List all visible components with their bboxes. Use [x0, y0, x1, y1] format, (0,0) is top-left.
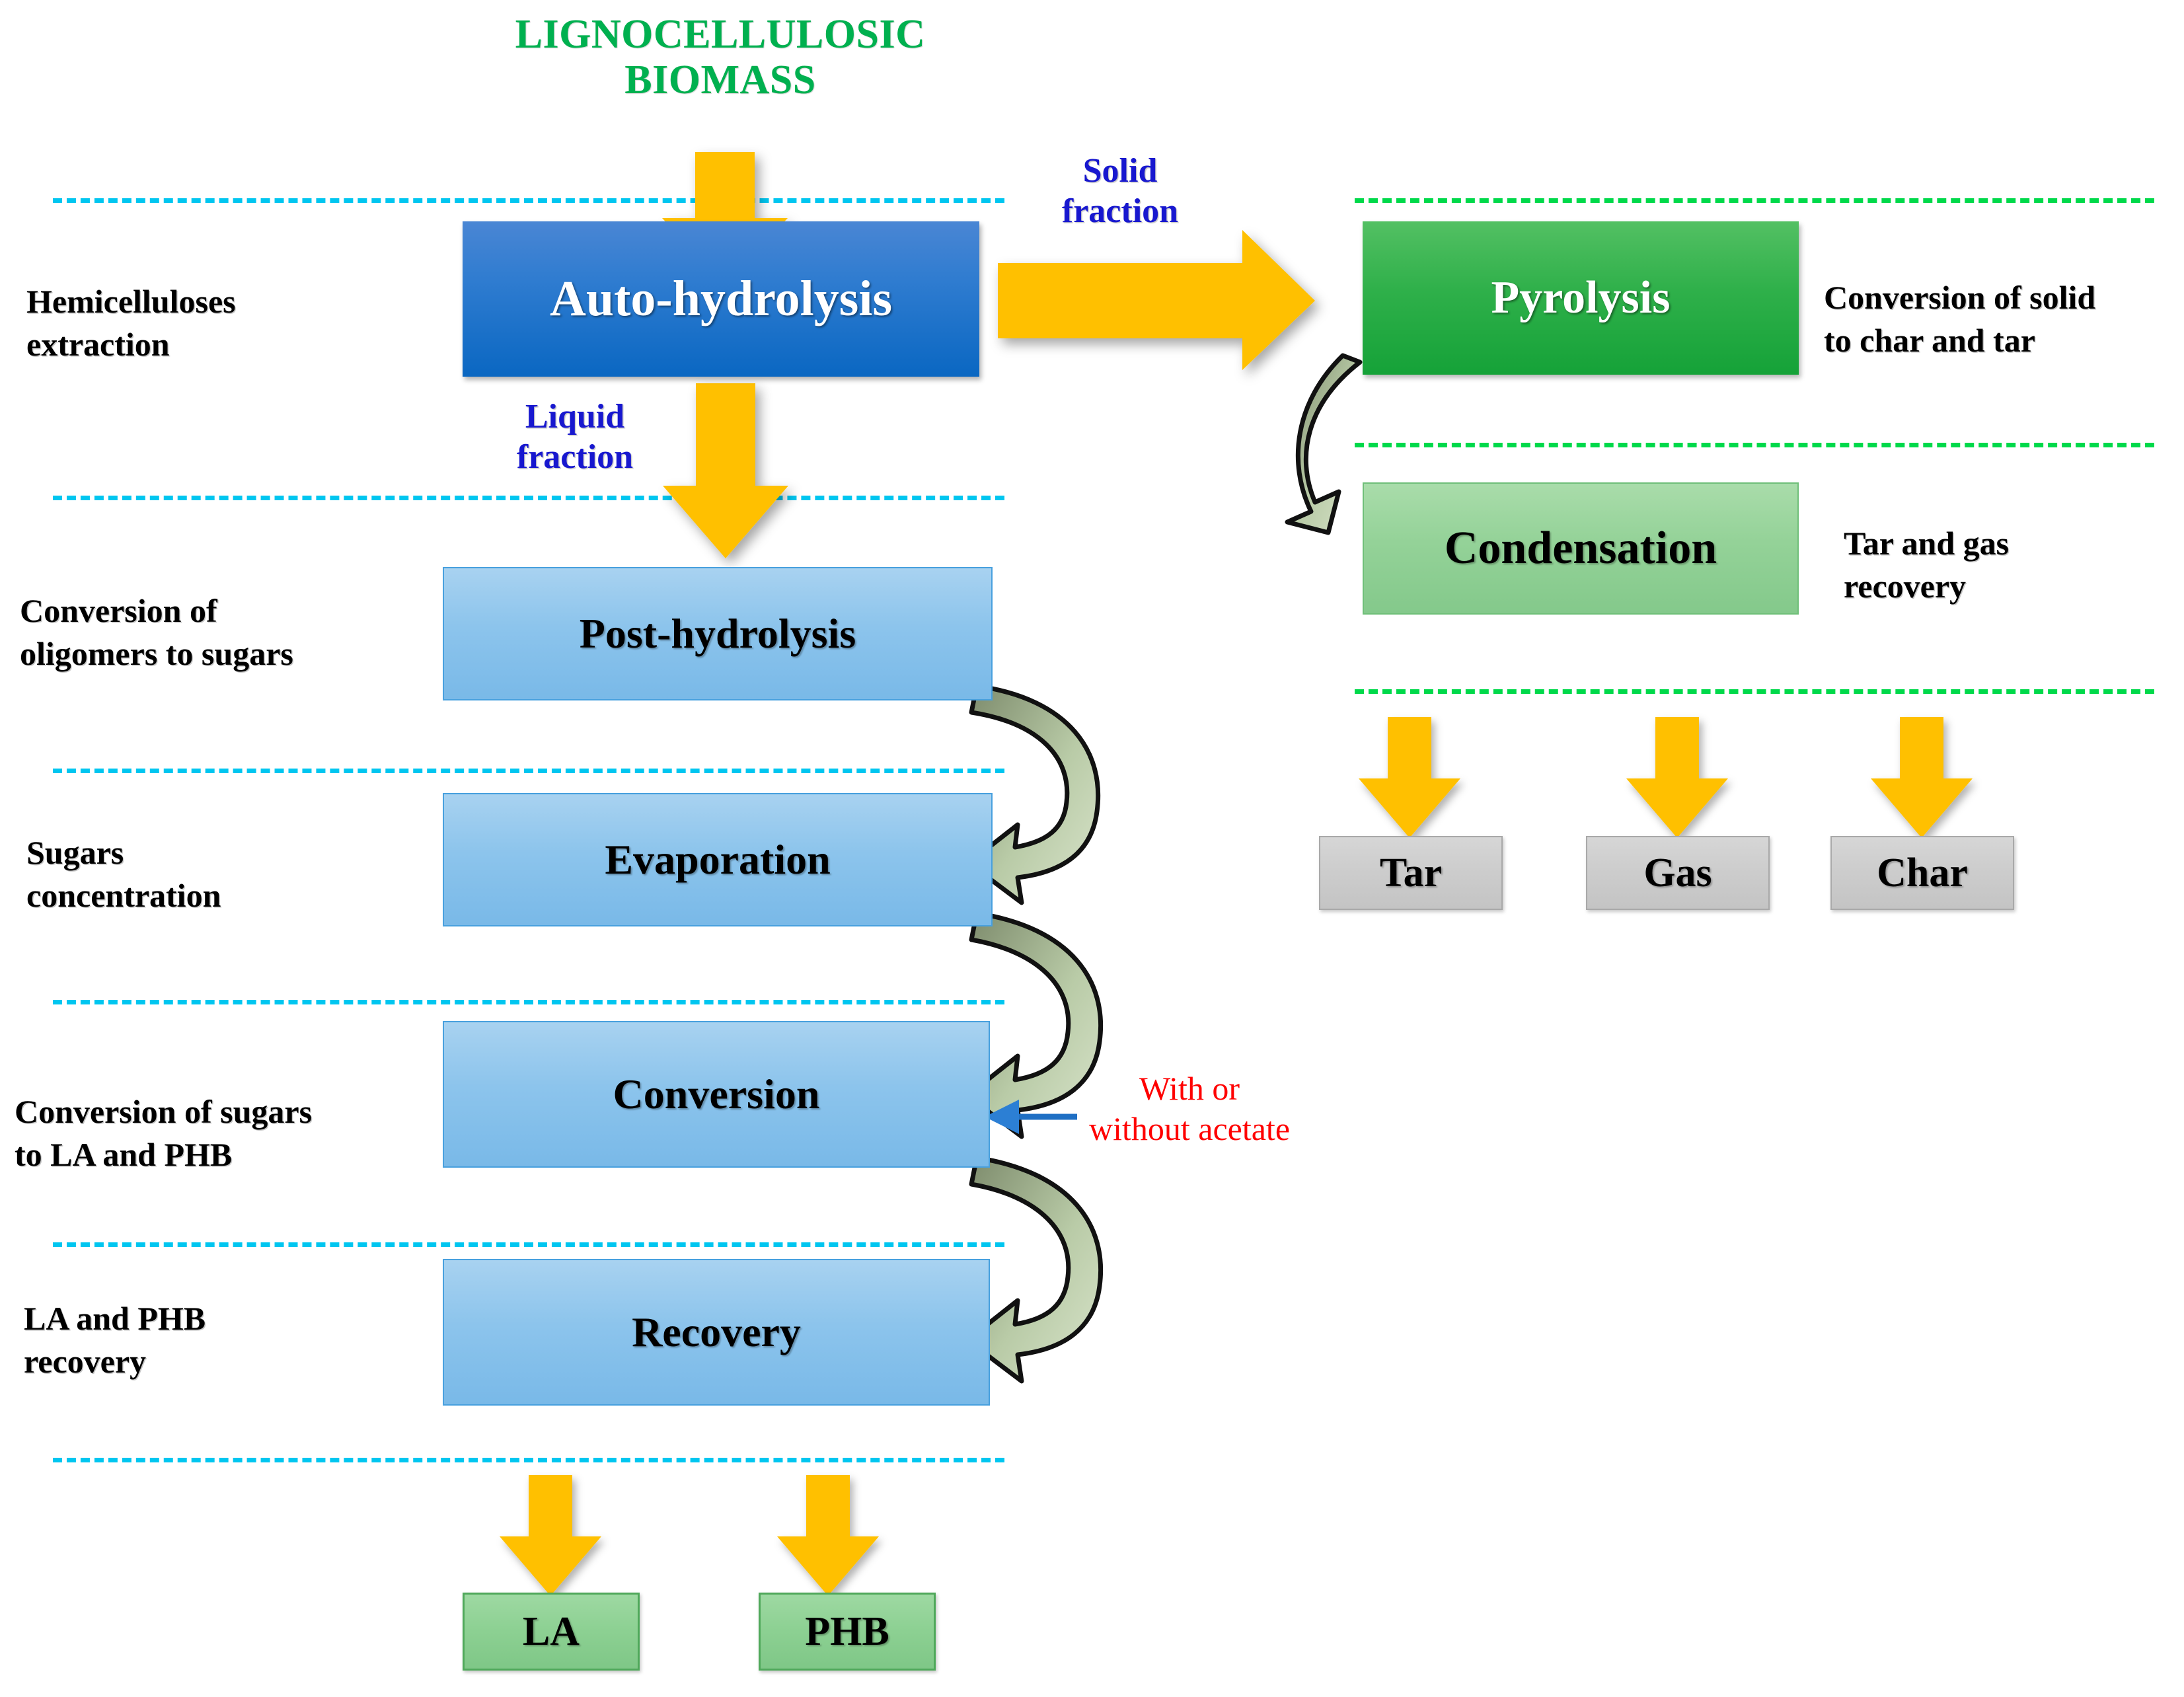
arrow-to-la [500, 1475, 601, 1596]
separator-cyan-3 [53, 769, 1004, 773]
box-auto-hydrolysis[interactable]: Auto-hydrolysis [463, 221, 979, 377]
liquid-fraction-line-2: fraction [489, 437, 661, 477]
box-pyrolysis-label: Pyrolysis [1491, 272, 1671, 324]
box-output-tar[interactable]: Tar [1319, 836, 1503, 910]
separator-cyan-4 [53, 1000, 1004, 1004]
arrow-to-phb [777, 1475, 879, 1596]
box-recovery[interactable]: Recovery [443, 1259, 990, 1406]
curved-arrow-pyrolysis-to-condensation [1287, 356, 1360, 533]
arrow-to-gas [1626, 717, 1728, 838]
box-evaporation-label: Evaporation [605, 835, 830, 884]
label-line-2: recovery [1844, 565, 2184, 608]
label-line-1: Conversion of [20, 589, 456, 632]
arrow-solid-fraction [998, 230, 1315, 370]
box-condensation[interactable]: Condensation [1363, 482, 1799, 615]
label-line-2: recovery [24, 1340, 447, 1383]
label-oligomers-to-sugars: Conversion of oligomers to sugars [20, 589, 456, 675]
label-line-2: to char and tar [1824, 319, 2184, 362]
box-conversion-label: Conversion [613, 1070, 820, 1119]
label-line-1: LA and PHB [24, 1297, 447, 1340]
label-line-1: Hemicelluloses [26, 280, 449, 323]
box-output-tar-label: Tar [1380, 850, 1442, 897]
box-condensation-label: Condensation [1445, 522, 1717, 575]
label-sugars-concentration: Sugars concentration [26, 831, 449, 917]
label-tar-gas-recovery: Tar and gas recovery [1844, 522, 2184, 608]
separator-cyan-1 [53, 198, 1004, 203]
box-pyrolysis[interactable]: Pyrolysis [1363, 221, 1799, 375]
label-liquid-fraction: Liquid fraction [489, 396, 661, 478]
label-line-2: to LA and PHB [15, 1133, 471, 1176]
box-product-phb-label: PHB [805, 1608, 889, 1655]
acetate-line-2: without acetate [1057, 1109, 1322, 1149]
box-output-char[interactable]: Char [1830, 836, 2014, 910]
box-output-char-label: Char [1877, 850, 1968, 897]
label-sugars-to-la-phb: Conversion of sugars to LA and PHB [15, 1090, 471, 1176]
box-output-gas[interactable]: Gas [1586, 836, 1770, 910]
separator-cyan-5 [53, 1242, 1004, 1247]
label-line-1: Tar and gas [1844, 522, 2184, 565]
label-line-1: Conversion of sugars [15, 1090, 471, 1133]
solid-fraction-line-2: fraction [1011, 191, 1229, 231]
arrow-liquid-fraction [663, 383, 788, 558]
box-conversion[interactable]: Conversion [443, 1021, 990, 1168]
acetate-line-1: With or [1057, 1069, 1322, 1109]
box-evaporation[interactable]: Evaporation [443, 793, 993, 926]
label-line-2: extraction [26, 323, 449, 366]
separator-green-1 [1355, 198, 2154, 203]
box-auto-hydrolysis-label: Auto-hydrolysis [550, 270, 892, 328]
label-hemicelluloses-extraction: Hemicelluloses extraction [26, 280, 449, 366]
annotation-acetate: With or without acetate [1057, 1069, 1322, 1149]
solid-fraction-line-1: Solid [1011, 151, 1229, 191]
title-line-2: BIOMASS [463, 57, 978, 103]
box-output-gas-label: Gas [1643, 850, 1712, 897]
box-post-hydrolysis-label: Post-hydrolysis [580, 609, 856, 658]
arrow-to-char [1871, 717, 1973, 838]
liquid-fraction-line-1: Liquid [489, 396, 661, 437]
label-solid-fraction: Solid fraction [1011, 151, 1229, 232]
separator-cyan-2 [53, 496, 1004, 500]
label-la-phb-recovery: LA and PHB recovery [24, 1297, 447, 1383]
box-product-la-label: LA [523, 1608, 580, 1655]
label-line-1: Sugars [26, 831, 449, 874]
label-line-1: Conversion of solid [1824, 276, 2184, 319]
separator-green-3 [1355, 689, 2154, 694]
box-recovery-label: Recovery [632, 1308, 801, 1357]
separator-cyan-6 [53, 1458, 1004, 1462]
label-solid-to-char-tar: Conversion of solid to char and tar [1824, 276, 2184, 362]
diagram-title: LIGNOCELLULOSIC BIOMASS [463, 12, 978, 104]
title-line-1: LIGNOCELLULOSIC [463, 12, 978, 57]
box-post-hydrolysis[interactable]: Post-hydrolysis [443, 567, 993, 700]
separator-green-2 [1355, 443, 2154, 447]
box-product-phb[interactable]: PHB [759, 1593, 936, 1671]
label-line-2: concentration [26, 874, 449, 917]
box-product-la[interactable]: LA [463, 1593, 640, 1671]
arrow-to-tar [1359, 717, 1460, 838]
label-line-2: oligomers to sugars [20, 632, 456, 675]
diagram-canvas: LIGNOCELLULOSIC BIOMASS Hemicelluloses e… [0, 0, 2184, 1697]
